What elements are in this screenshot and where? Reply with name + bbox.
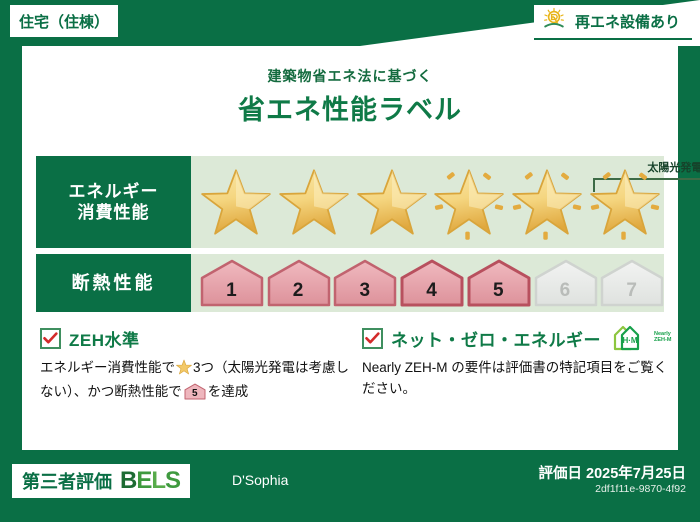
house-level-marker: 2 [266,258,331,308]
house-level-value: 7 [626,280,637,308]
net-zero-energy-description: Nearly ZEH-M の要件は評価書の特記項目をご覧ください。 [362,358,672,400]
star-icon-inline [176,359,192,382]
building-type-chip: 住宅（住棟） [10,5,118,37]
zeh-desc-part3: を達成 [208,384,249,399]
label-subtitle: 建築物省エネ法に基づく [22,66,678,86]
insulation-row-label: 断熱性能 [36,254,191,312]
zeh-standard-description: エネルギー消費性能で3つ（太陽光発電は考慮しない）、かつ断熱性能で5を達成 [40,358,350,403]
star-icon [275,160,353,244]
house-level-value: 4 [426,280,437,308]
house-level-marker: 1 [199,258,264,308]
insulation-row-body: 1 2 3 4 5 [191,254,664,312]
zeh-m-logo: H·M Nearly ZEH-M [613,325,671,351]
insulation-performance-row: 断熱性能 1 2 3 [36,254,664,312]
zeh-standard-heading: ZEH水準 [40,326,350,350]
net-zero-energy-title: ネット・ゼロ・エネルギー [391,326,601,351]
energy-performance-label: 住宅（住棟） [0,0,700,522]
star-icon [197,160,275,244]
energy-label-line2: 消費性能 [78,202,150,223]
house-level-value: 5 [493,280,504,308]
house-level-value: 6 [560,280,571,308]
bels-logo: BELS [120,469,180,493]
house-level-value: 2 [293,280,304,308]
renewable-badge-label: 再エネ設備あり [575,11,680,32]
certificate-id: 2df1f11e-9870-4f92 [595,483,686,495]
energy-row-body: 太陽光発電(自家消費)分 [191,156,664,248]
building-type-label: 住宅（住棟） [19,11,109,32]
svg-text:H·M: H·M [622,336,637,345]
zeh-standard-block: ZEH水準 エネルギー消費性能で3つ（太陽光発電は考慮しない）、かつ断熱性能で5… [40,326,350,403]
footer-band: 第三者評価 BELS D'Sophia 評価日 2025年7月25日 2df1f… [0,450,700,522]
house-level-marker-inactive: 7 [599,258,664,308]
zeh-m-logo-sub2: ZEH-M [654,338,671,344]
house-level-marker: 3 [332,258,397,308]
renewable-equipment-badge: 再エネ設備あり [534,5,692,40]
bels-certification-chip: 第三者評価 BELS [12,464,190,498]
insulation-scale: 1 2 3 4 5 [191,254,664,312]
star-rating [191,156,664,248]
net-zero-energy-block: ネット・ゼロ・エネルギー H·M Nearly ZEH-M Nearly ZEH… [362,326,672,400]
main-card: 建築物省エネ法に基づく 省エネ性能ラベル エネルギー 消費性能 太陽光発電(自家… [22,46,678,450]
house-level-marker-achieved: 5 [466,258,531,308]
solar-sun-icon [542,7,568,36]
bels-letter-e: E [136,467,151,494]
zeh-standard-title: ZEH水準 [69,326,140,351]
label-title: 省エネ性能ラベル [22,88,678,127]
zeh-desc-part1: エネルギー消費性能で [40,360,175,375]
energy-label-line1: エネルギー [69,181,159,202]
third-party-label: 第三者評価 [22,468,112,494]
house-level-value: 1 [226,280,237,308]
house-level-value: 3 [360,280,371,308]
insulation-label-text: 断熱性能 [72,272,156,295]
star-icon-solar [508,160,586,244]
star-icon-solar [586,160,664,244]
star-icon-solar [430,160,508,244]
checkbox-checked-icon [362,328,383,349]
bels-letter-b: B [120,467,136,494]
evaluation-date-value: 2025年7月25日 [586,466,686,482]
checkbox-checked-icon [40,328,61,349]
net-zero-energy-heading: ネット・ゼロ・エネルギー H·M Nearly ZEH-M [362,326,672,350]
header-band: 住宅（住棟） [0,0,700,46]
star-icon [353,160,431,244]
bels-letter-s: S [165,467,180,494]
house-icon-inline: 5 [184,383,206,400]
energy-row-label: エネルギー 消費性能 [36,156,191,248]
evaluation-date-label: 評価日 [539,466,583,482]
house-level-marker-inactive: 6 [533,258,598,308]
energy-performance-row: エネルギー 消費性能 太陽光発電(自家消費)分 [36,156,664,248]
project-name: D'Sophia [232,472,288,488]
bels-letter-l: L [151,467,165,494]
evaluation-date: 評価日 2025年7月25日 [539,462,686,483]
house-icon-inline-value: 5 [184,386,206,402]
house-level-marker: 4 [399,258,464,308]
zeh-desc-star-count: 3つ [193,360,214,375]
